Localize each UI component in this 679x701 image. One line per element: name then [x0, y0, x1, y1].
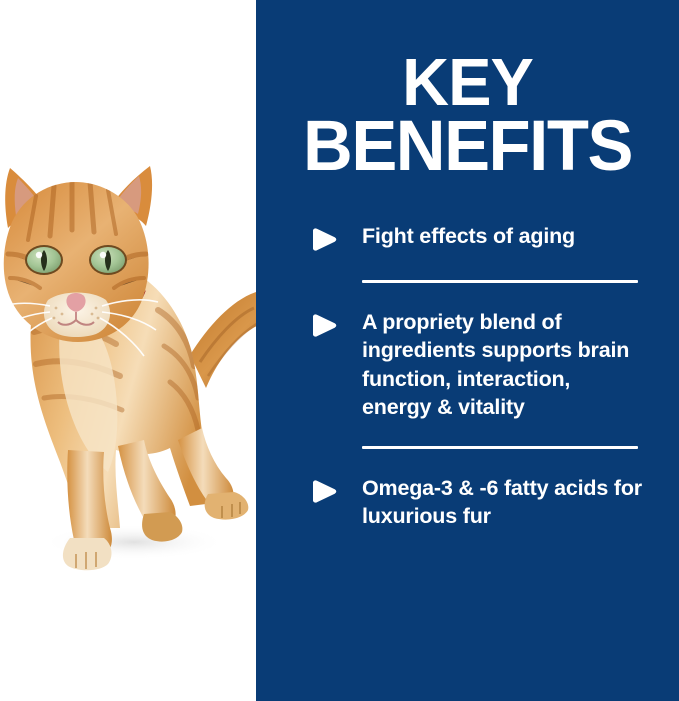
cat-image-panel	[0, 0, 256, 701]
play-triangle-icon	[313, 480, 337, 503]
spacer	[313, 449, 643, 474]
benefit-text-blend: A propriety blend of ingredients support…	[362, 308, 643, 422]
benefits-list: Fight effects of aging A propriety blend…	[313, 222, 643, 530]
benefit-item-blend: A propriety blend of ingredients support…	[313, 308, 643, 422]
benefit-item-omega: Omega-3 & -6 fatty acids for luxurious f…	[313, 474, 643, 531]
page-title-line-1: KEY	[262, 52, 672, 114]
cat-tail	[190, 291, 264, 388]
spacer	[313, 283, 643, 308]
spacer	[313, 422, 643, 446]
benefit-text-omega: Omega-3 & -6 fatty acids for luxurious f…	[362, 474, 643, 531]
benefit-text-aging: Fight effects of aging	[362, 222, 643, 250]
page-title-line-2: BENEFITS	[262, 114, 672, 179]
key-benefits-panel: KEY BENEFITS Fight effects of aging	[0, 0, 679, 701]
cat-photo	[0, 150, 264, 580]
play-triangle-icon	[313, 314, 337, 337]
benefit-item-aging: Fight effects of aging	[313, 222, 643, 251]
page-title: KEY BENEFITS	[262, 52, 672, 179]
benefits-panel: KEY BENEFITS Fight effects of aging	[256, 0, 679, 701]
play-triangle-icon	[313, 228, 337, 251]
spacer	[313, 251, 643, 280]
